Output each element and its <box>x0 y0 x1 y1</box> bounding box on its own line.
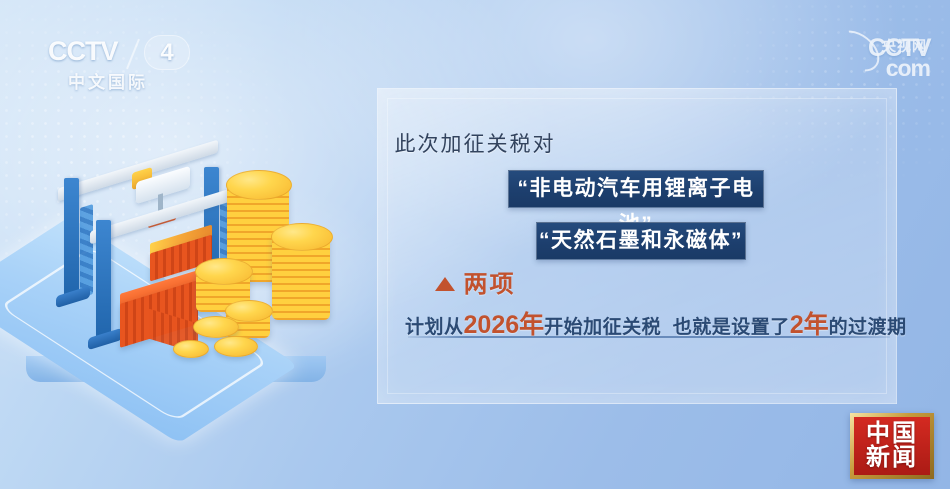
program-logo-line-2: 新闻 <box>866 446 918 470</box>
transition-period-note: 计划从2026年开始加征关税 也就是设置了2年的过渡期 <box>405 305 893 333</box>
cctv-channel-number-badge: 4 <box>144 35 190 70</box>
note-highlight-duration: 2年 <box>790 311 829 339</box>
watermark-cn-text: 央视网 <box>882 36 927 56</box>
coin-loose-1 <box>193 316 239 338</box>
note-highlight-year-2026: 2026年 <box>464 311 545 339</box>
summary-count-row: 两项 <box>0 264 950 299</box>
note-underline-rule <box>408 336 890 338</box>
cctv-com-watermark: CCTV 央视网 com <box>868 36 930 80</box>
coin-loose-2 <box>214 336 258 357</box>
coin-cap-tall <box>226 170 292 200</box>
note-part-4: 的过渡期 <box>829 317 907 338</box>
broadcast-screen: CCTV 4 中文国际 CCTV 央视网 com <box>0 0 950 489</box>
note-part-3: 也就是设置了 <box>673 317 790 338</box>
cctv4-logo: CCTV 4 中文国际 <box>48 38 188 86</box>
summary-count-label: 两项 <box>464 271 516 298</box>
triangle-up-icon <box>435 277 455 291</box>
badge-item-graphite-magnet: “天然石墨和永磁体” <box>536 222 746 260</box>
note-part-2: 开始加征关税 <box>544 317 661 338</box>
program-logo-line-1: 中国 <box>866 422 918 446</box>
badge-item-battery: “非电动汽车用锂离子电池” <box>508 170 764 208</box>
note-part-1: 计划从 <box>405 317 464 338</box>
page-title: 此次加征关税对 <box>0 128 950 158</box>
coin-loose-3 <box>173 340 209 358</box>
coin-cap-right <box>271 223 333 251</box>
cctv-logo-subtitle: 中文国际 <box>68 68 148 93</box>
watermark-arc-icon <box>827 22 887 80</box>
watermark-com-text: com <box>886 55 930 82</box>
program-logo-china-news: 中国 新闻 <box>850 413 934 479</box>
cctv-channel-number: 4 <box>145 36 189 69</box>
program-logo-inner: 中国 新闻 <box>854 417 930 475</box>
